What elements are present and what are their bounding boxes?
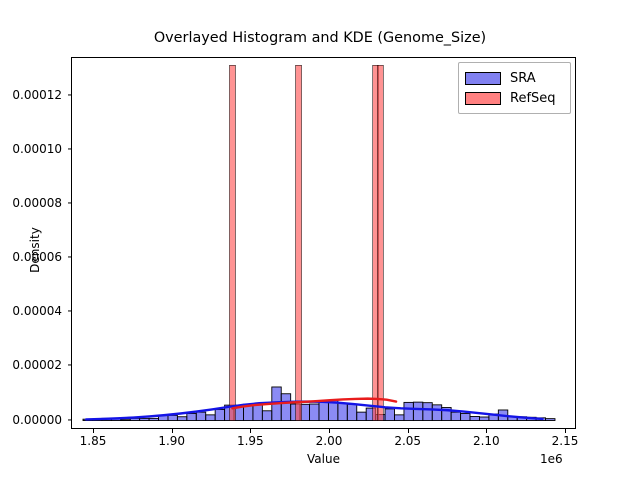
x-axis-offset-text: 1e6	[540, 452, 563, 466]
histogram-bar	[187, 414, 196, 421]
histogram-bar	[206, 415, 215, 421]
legend-swatch-refseq	[465, 92, 501, 105]
histogram-bar	[423, 403, 432, 421]
histogram-bar	[451, 412, 460, 420]
histogram-bar	[461, 414, 470, 421]
histogram-bar	[196, 412, 205, 420]
histogram-bar	[281, 394, 290, 421]
legend-item-sra: SRA	[465, 68, 564, 88]
histogram-bar	[177, 417, 186, 421]
x-tick-mark	[486, 429, 487, 433]
histogram-bar	[310, 404, 319, 421]
y-tick-mark	[68, 257, 72, 258]
y-tick-mark	[68, 419, 72, 420]
histogram-bar	[347, 404, 356, 420]
legend-label-sra: SRA	[510, 72, 536, 85]
x-tick-mark	[408, 429, 409, 433]
x-tick-mark	[93, 429, 94, 433]
legend-swatch-sra	[465, 72, 501, 85]
x-tick-mark	[172, 429, 173, 433]
y-tick-mark	[68, 365, 72, 366]
histogram-bar	[470, 416, 479, 420]
histogram-bar	[262, 411, 271, 421]
legend-item-refseq: RefSeq	[465, 88, 564, 108]
histogram-bar	[215, 409, 224, 420]
x-tick-mark	[329, 429, 330, 433]
histogram-bar	[296, 65, 302, 420]
y-tick-label: 0.00000	[0, 413, 62, 427]
y-tick-mark	[68, 148, 72, 149]
y-tick-label: 0.00002	[0, 358, 62, 372]
y-tick-label: 0.00012	[0, 88, 62, 102]
histogram-bars-refseq	[229, 65, 383, 420]
matplotlib-figure: Overlayed Histogram and KDE (Genome_Size…	[0, 0, 640, 480]
histogram-bar	[377, 65, 383, 420]
page-title: Overlayed Histogram and KDE (Genome_Size…	[0, 30, 640, 46]
y-tick-label: 0.00010	[0, 142, 62, 156]
histogram-bar	[168, 415, 177, 420]
x-tick-label: 2.10	[441, 434, 531, 448]
x-tick-mark	[565, 429, 566, 433]
histogram-bar	[319, 401, 328, 421]
x-axis-label: Value	[71, 452, 576, 466]
legend-label-refseq: RefSeq	[510, 92, 556, 105]
histogram-bar	[546, 419, 555, 421]
y-axis-label: Density	[28, 190, 42, 310]
y-tick-mark	[68, 311, 72, 312]
x-tick-label: 2.15	[520, 434, 610, 448]
y-tick-mark	[68, 94, 72, 95]
histogram-bar	[121, 420, 130, 421]
histogram-bar	[140, 418, 149, 420]
histogram-bar	[479, 417, 488, 421]
x-tick-mark	[250, 429, 251, 433]
x-tick-label: 2.05	[363, 434, 453, 448]
histogram-bar	[338, 403, 347, 421]
histogram-bar	[385, 409, 394, 421]
histogram-bar	[395, 415, 404, 421]
x-tick-label: 2.00	[284, 434, 374, 448]
x-tick-label: 1.85	[48, 434, 138, 448]
x-tick-label: 1.95	[205, 434, 295, 448]
histogram-bar	[432, 405, 441, 421]
y-tick-mark	[68, 203, 72, 204]
legend: SRA RefSeq	[458, 62, 571, 114]
histogram-bar	[357, 412, 366, 420]
histogram-bar	[229, 65, 235, 420]
histogram-bar	[404, 402, 413, 420]
histogram-bar	[413, 402, 422, 420]
x-tick-label: 1.90	[127, 434, 217, 448]
histogram-bar	[149, 418, 158, 420]
histogram-bar	[253, 404, 262, 421]
